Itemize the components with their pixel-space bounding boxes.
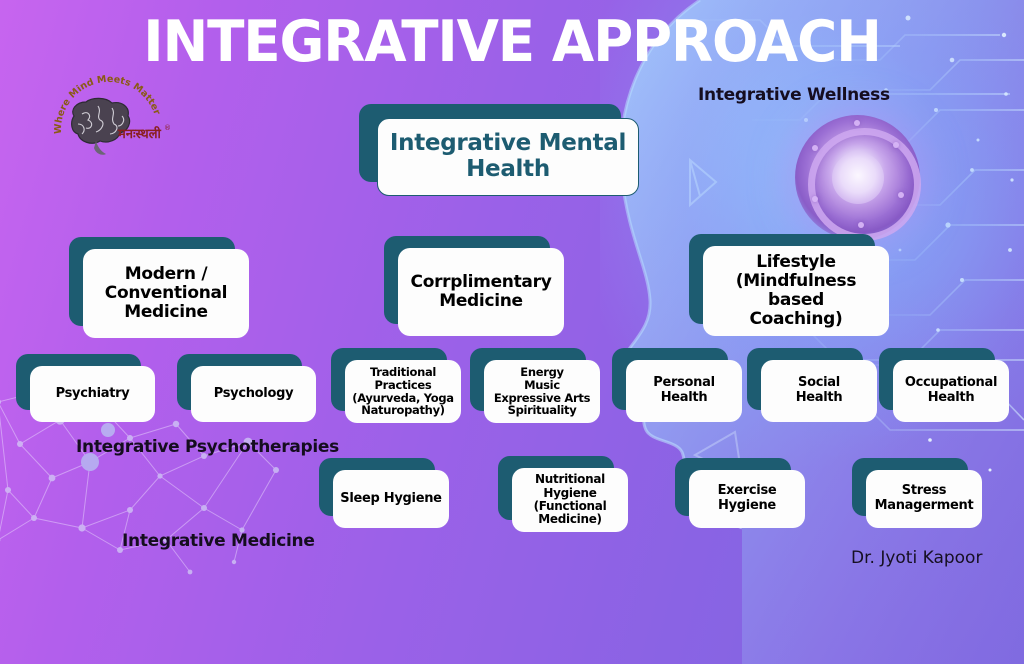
- node-card: SocialHealth: [761, 360, 877, 422]
- node-line: Managerment: [875, 498, 974, 513]
- node-line: Social: [798, 375, 840, 390]
- mandala-bolt: [893, 142, 899, 148]
- node-line: Coaching): [750, 309, 843, 329]
- node-social-health[interactable]: SocialHealth: [761, 360, 877, 422]
- node-line: Hygiene: [718, 498, 776, 513]
- mandala-ring: [808, 128, 921, 241]
- node-card: Psychiatry: [30, 366, 155, 422]
- mandala-bolt: [858, 222, 864, 228]
- connector-lines: [0, 0, 300, 150]
- node-line: Medicine: [439, 291, 523, 311]
- node-line: Health: [796, 390, 843, 405]
- logo-subtext: [52, 160, 170, 166]
- node-card: StressManagerment: [866, 470, 982, 528]
- node-line: Conventional: [105, 283, 227, 303]
- node-psychiatry[interactable]: Psychiatry: [30, 366, 155, 422]
- node-line: Hygiene: [543, 486, 596, 500]
- node-line: Occupational: [905, 375, 997, 390]
- author-credit: Dr. Jyoti Kapoor: [851, 548, 982, 568]
- label-integrative-medicine: Integrative Medicine: [122, 531, 315, 551]
- node-line: Psychology: [214, 387, 294, 402]
- mandala-gear-icon: [795, 115, 920, 240]
- node-line: Psychiatry: [56, 387, 130, 402]
- node-line: Stress: [902, 483, 946, 498]
- node-card: Psychology: [191, 366, 316, 422]
- mandala-bolt: [812, 145, 818, 151]
- node-sleep-hygiene[interactable]: Sleep Hygiene: [333, 470, 449, 528]
- node-complementary-medicine[interactable]: CorrplimentaryMedicine: [398, 248, 564, 336]
- node-nutritional-hygiene[interactable]: NutritionalHygiene(FunctionalMedicine): [512, 468, 628, 532]
- node-energy-music-arts-spirituality[interactable]: EnergyMusicExpressive ArtsSpirituality: [484, 360, 600, 423]
- node-modern-conventional-medicine[interactable]: Modern /ConventionalMedicine: [83, 249, 249, 338]
- node-card: OccupationalHealth: [893, 360, 1009, 422]
- infographic-canvas: INTEGRATIVE APPROACH Where Mind Meets Ma…: [0, 0, 1024, 664]
- node-traditional-practices[interactable]: TraditionalPractices(Ayurveda, YogaNatur…: [345, 360, 461, 423]
- mandala-bolt: [854, 120, 860, 126]
- mandala-bolt: [898, 192, 904, 198]
- mandala-bolt: [812, 196, 818, 202]
- node-line: Integrative Mental: [390, 130, 626, 156]
- node-line: Health: [928, 390, 975, 405]
- node-card: Sleep Hygiene: [333, 470, 449, 528]
- node-line: (Functional: [534, 499, 607, 513]
- label-integrative-wellness: Integrative Wellness: [698, 85, 890, 105]
- node-card: CorrplimentaryMedicine: [398, 248, 564, 336]
- node-exercise-hygiene[interactable]: ExerciseHygiene: [689, 470, 805, 528]
- node-line: Corrplimentary: [411, 272, 552, 292]
- node-card: ExerciseHygiene: [689, 470, 805, 528]
- node-card: NutritionalHygiene(FunctionalMedicine): [512, 468, 628, 532]
- node-integrative-mental-health[interactable]: Integrative MentalHealth: [377, 118, 639, 196]
- node-card: PersonalHealth: [626, 360, 742, 422]
- node-line: Medicine): [538, 512, 601, 526]
- node-card: Modern /ConventionalMedicine: [83, 249, 249, 338]
- node-line: Health: [661, 390, 708, 405]
- node-stress-management[interactable]: StressManagerment: [866, 470, 982, 528]
- node-line: Modern /: [125, 264, 208, 284]
- node-line: Exercise: [718, 483, 777, 498]
- node-line: Lifestyle: [756, 252, 836, 272]
- node-personal-health[interactable]: PersonalHealth: [626, 360, 742, 422]
- node-card: TraditionalPractices(Ayurveda, YogaNatur…: [345, 360, 461, 423]
- node-line: Nutritional: [535, 472, 605, 486]
- node-line: Personal: [653, 375, 715, 390]
- node-line: Sleep Hygiene: [340, 492, 441, 507]
- node-psychology[interactable]: Psychology: [191, 366, 316, 422]
- node-line: Health: [466, 156, 550, 182]
- node-card: Lifestyle(Mindfulness basedCoaching): [703, 246, 889, 336]
- node-line: Spirituality: [508, 403, 577, 417]
- node-card: Integrative MentalHealth: [377, 118, 639, 196]
- node-line: Naturopathy): [361, 403, 444, 417]
- node-lifestyle-mindfulness-coaching[interactable]: Lifestyle(Mindfulness basedCoaching): [703, 246, 889, 336]
- node-line: (Mindfulness based: [736, 271, 856, 310]
- node-card: EnergyMusicExpressive ArtsSpirituality: [484, 360, 600, 423]
- label-integrative-psychotherapies: Integrative Psychotherapies: [76, 437, 339, 457]
- node-occupational-health[interactable]: OccupationalHealth: [893, 360, 1009, 422]
- node-line: Medicine: [124, 302, 208, 322]
